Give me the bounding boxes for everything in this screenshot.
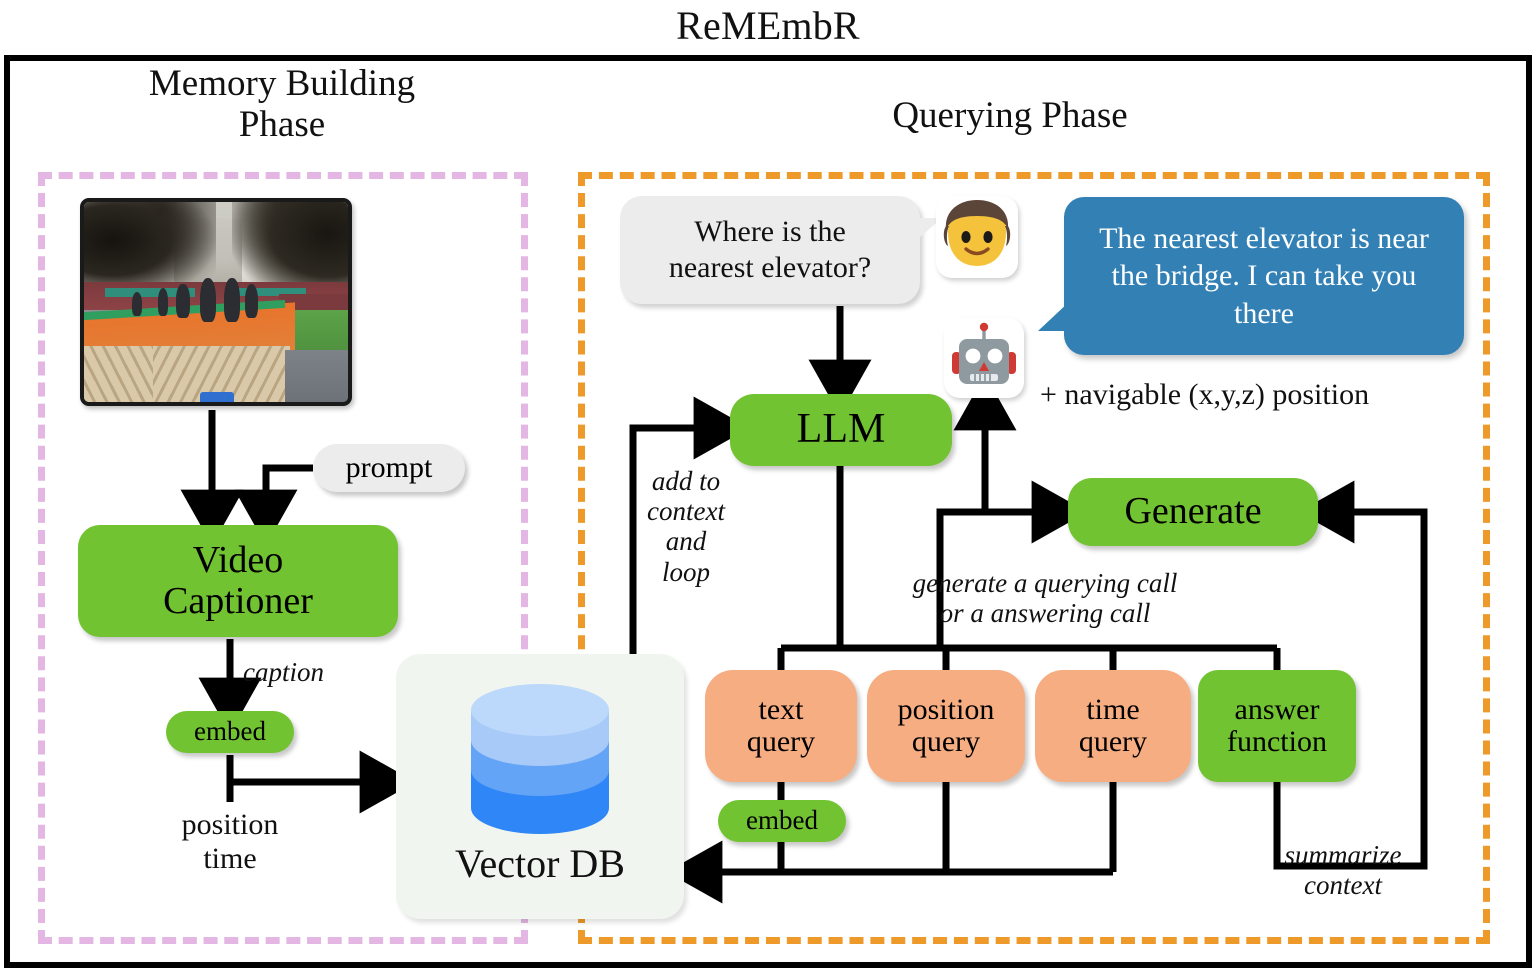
answer-function-node[interactable]: answerfunction: [1198, 670, 1356, 782]
embed-node-memory[interactable]: embed: [166, 711, 294, 753]
add-to-context-label: add tocontextandloop: [632, 466, 740, 587]
robot-answer-bubble: The nearest elevator is near the bridge.…: [1064, 197, 1464, 355]
user-avatar: [936, 196, 1018, 278]
figure-root: ReMEmbR Memory BuildingPhase Querying Ph…: [0, 0, 1536, 972]
user-question-text: Where is thenearest elevator?: [669, 214, 871, 286]
user-question-bubble: Where is thenearest elevator?: [620, 196, 920, 304]
time-query-node[interactable]: timequery: [1035, 670, 1191, 782]
bubble-tail-icon: [1038, 301, 1070, 331]
robot-avatar: [944, 318, 1024, 398]
generate-call-label: generate a querying callor a answering c…: [880, 568, 1210, 628]
vector-db-label: Vector DB: [396, 842, 684, 885]
summarize-context-label: summarizecontext: [1258, 840, 1428, 900]
position-query-node[interactable]: positionquery: [867, 670, 1025, 782]
robot-answer-text: The nearest elevator is near the bridge.…: [1082, 220, 1446, 333]
database-icon: [471, 684, 609, 834]
text-query-node[interactable]: textquery: [705, 670, 857, 782]
vector-db-node[interactable]: Vector DB: [396, 654, 684, 919]
video-captioner-node[interactable]: VideoCaptioner: [78, 525, 398, 637]
navigable-position-label: + navigable (x,y,z) position: [1040, 378, 1480, 412]
video-thumbnail: [80, 198, 352, 406]
position-time-label: positiontime: [152, 808, 308, 875]
llm-node[interactable]: LLM: [730, 394, 952, 466]
caption-label: caption: [243, 657, 383, 687]
prompt-node[interactable]: prompt: [313, 444, 465, 492]
embed-node-querying[interactable]: embed: [718, 800, 846, 842]
generate-node[interactable]: Generate: [1068, 478, 1318, 546]
